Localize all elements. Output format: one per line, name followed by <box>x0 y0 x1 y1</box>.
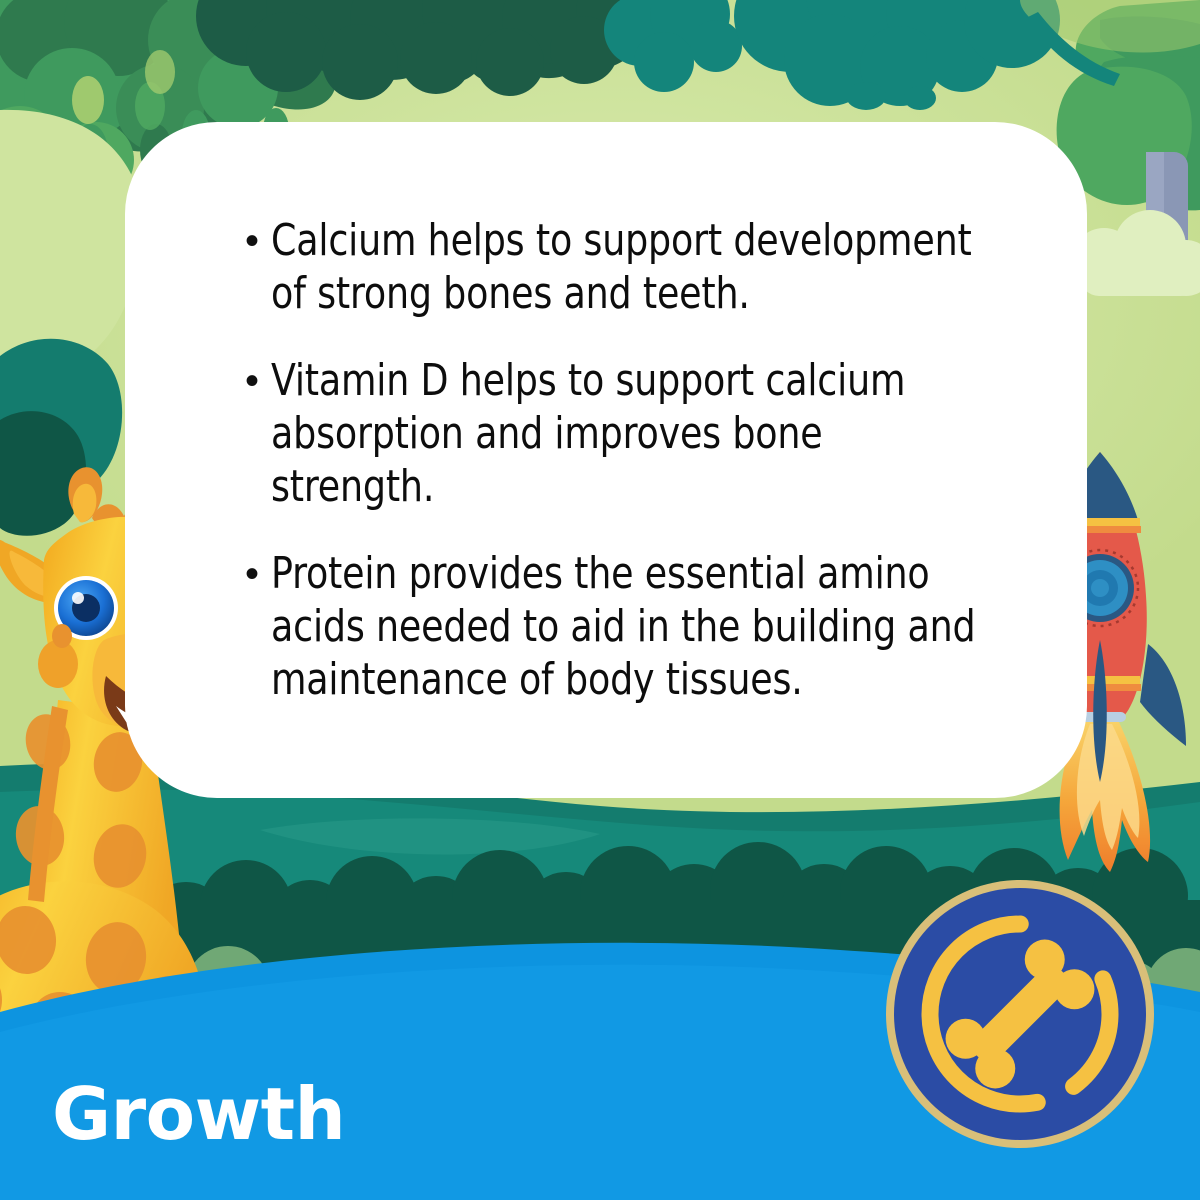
bullet-text: Calcium helps to support development of … <box>271 214 983 320</box>
bullet-text: Vitamin D helps to support calcium absor… <box>271 354 983 513</box>
page-title: Growth <box>52 1076 345 1152</box>
growth-nutrition-poster: • Calcium helps to support development o… <box>0 0 1200 1200</box>
content-card: • Calcium helps to support development o… <box>125 122 1087 798</box>
bullet-marker-icon: • <box>245 354 271 408</box>
bullet-list: • Calcium helps to support development o… <box>245 214 1045 706</box>
growth-bone-badge <box>884 878 1156 1150</box>
tree-canopy-center <box>196 0 742 100</box>
bullet-marker-icon: • <box>245 547 271 601</box>
bullet-text: Protein provides the essential amino aci… <box>271 547 983 706</box>
list-item: • Calcium helps to support development o… <box>245 214 1045 320</box>
list-item: • Protein provides the essential amino a… <box>245 547 1045 706</box>
bullet-marker-icon: • <box>245 214 271 268</box>
list-item: • Vitamin D helps to support calcium abs… <box>245 354 1045 513</box>
